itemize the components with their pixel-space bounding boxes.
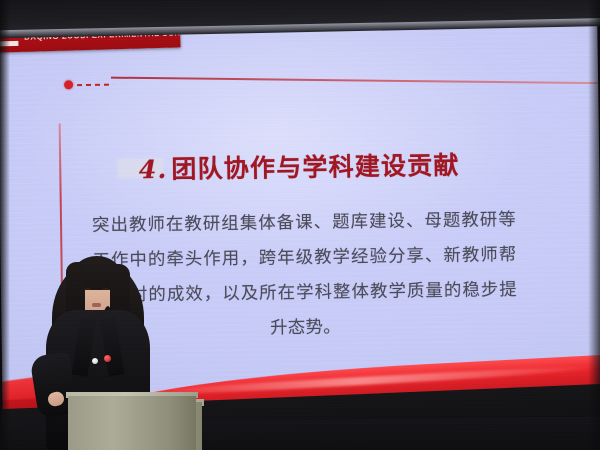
presenter-eye-left — [84, 288, 91, 290]
school-logo-underbar-icon — [0, 41, 18, 47]
presenter-pin — [92, 358, 98, 364]
red-dot-decoration — [64, 80, 73, 89]
presenter-mouth — [92, 303, 101, 307]
diagonal-red-line-decoration — [111, 77, 600, 84]
slide-body-text: 突出教师在教研组集体备课、题库建设、母题教研等工作中的牵头作用，跨年级教学经验分… — [92, 203, 518, 349]
slide-title-text: 团队协作与学科建设贡献 — [171, 151, 460, 184]
dashed-line-decoration — [77, 83, 113, 86]
presenter-badge — [104, 355, 111, 362]
slide-title-number: 4. — [139, 155, 168, 184]
podium-body — [68, 396, 196, 450]
screenshot-root: 4.团队协作与学科建设贡献 突出教师在教研组集体备课、题库建设、母题教研等工作中… — [0, 0, 600, 450]
slide-title: 4.团队协作与学科建设贡献 — [0, 144, 599, 188]
presenter-eye-right — [102, 288, 109, 290]
